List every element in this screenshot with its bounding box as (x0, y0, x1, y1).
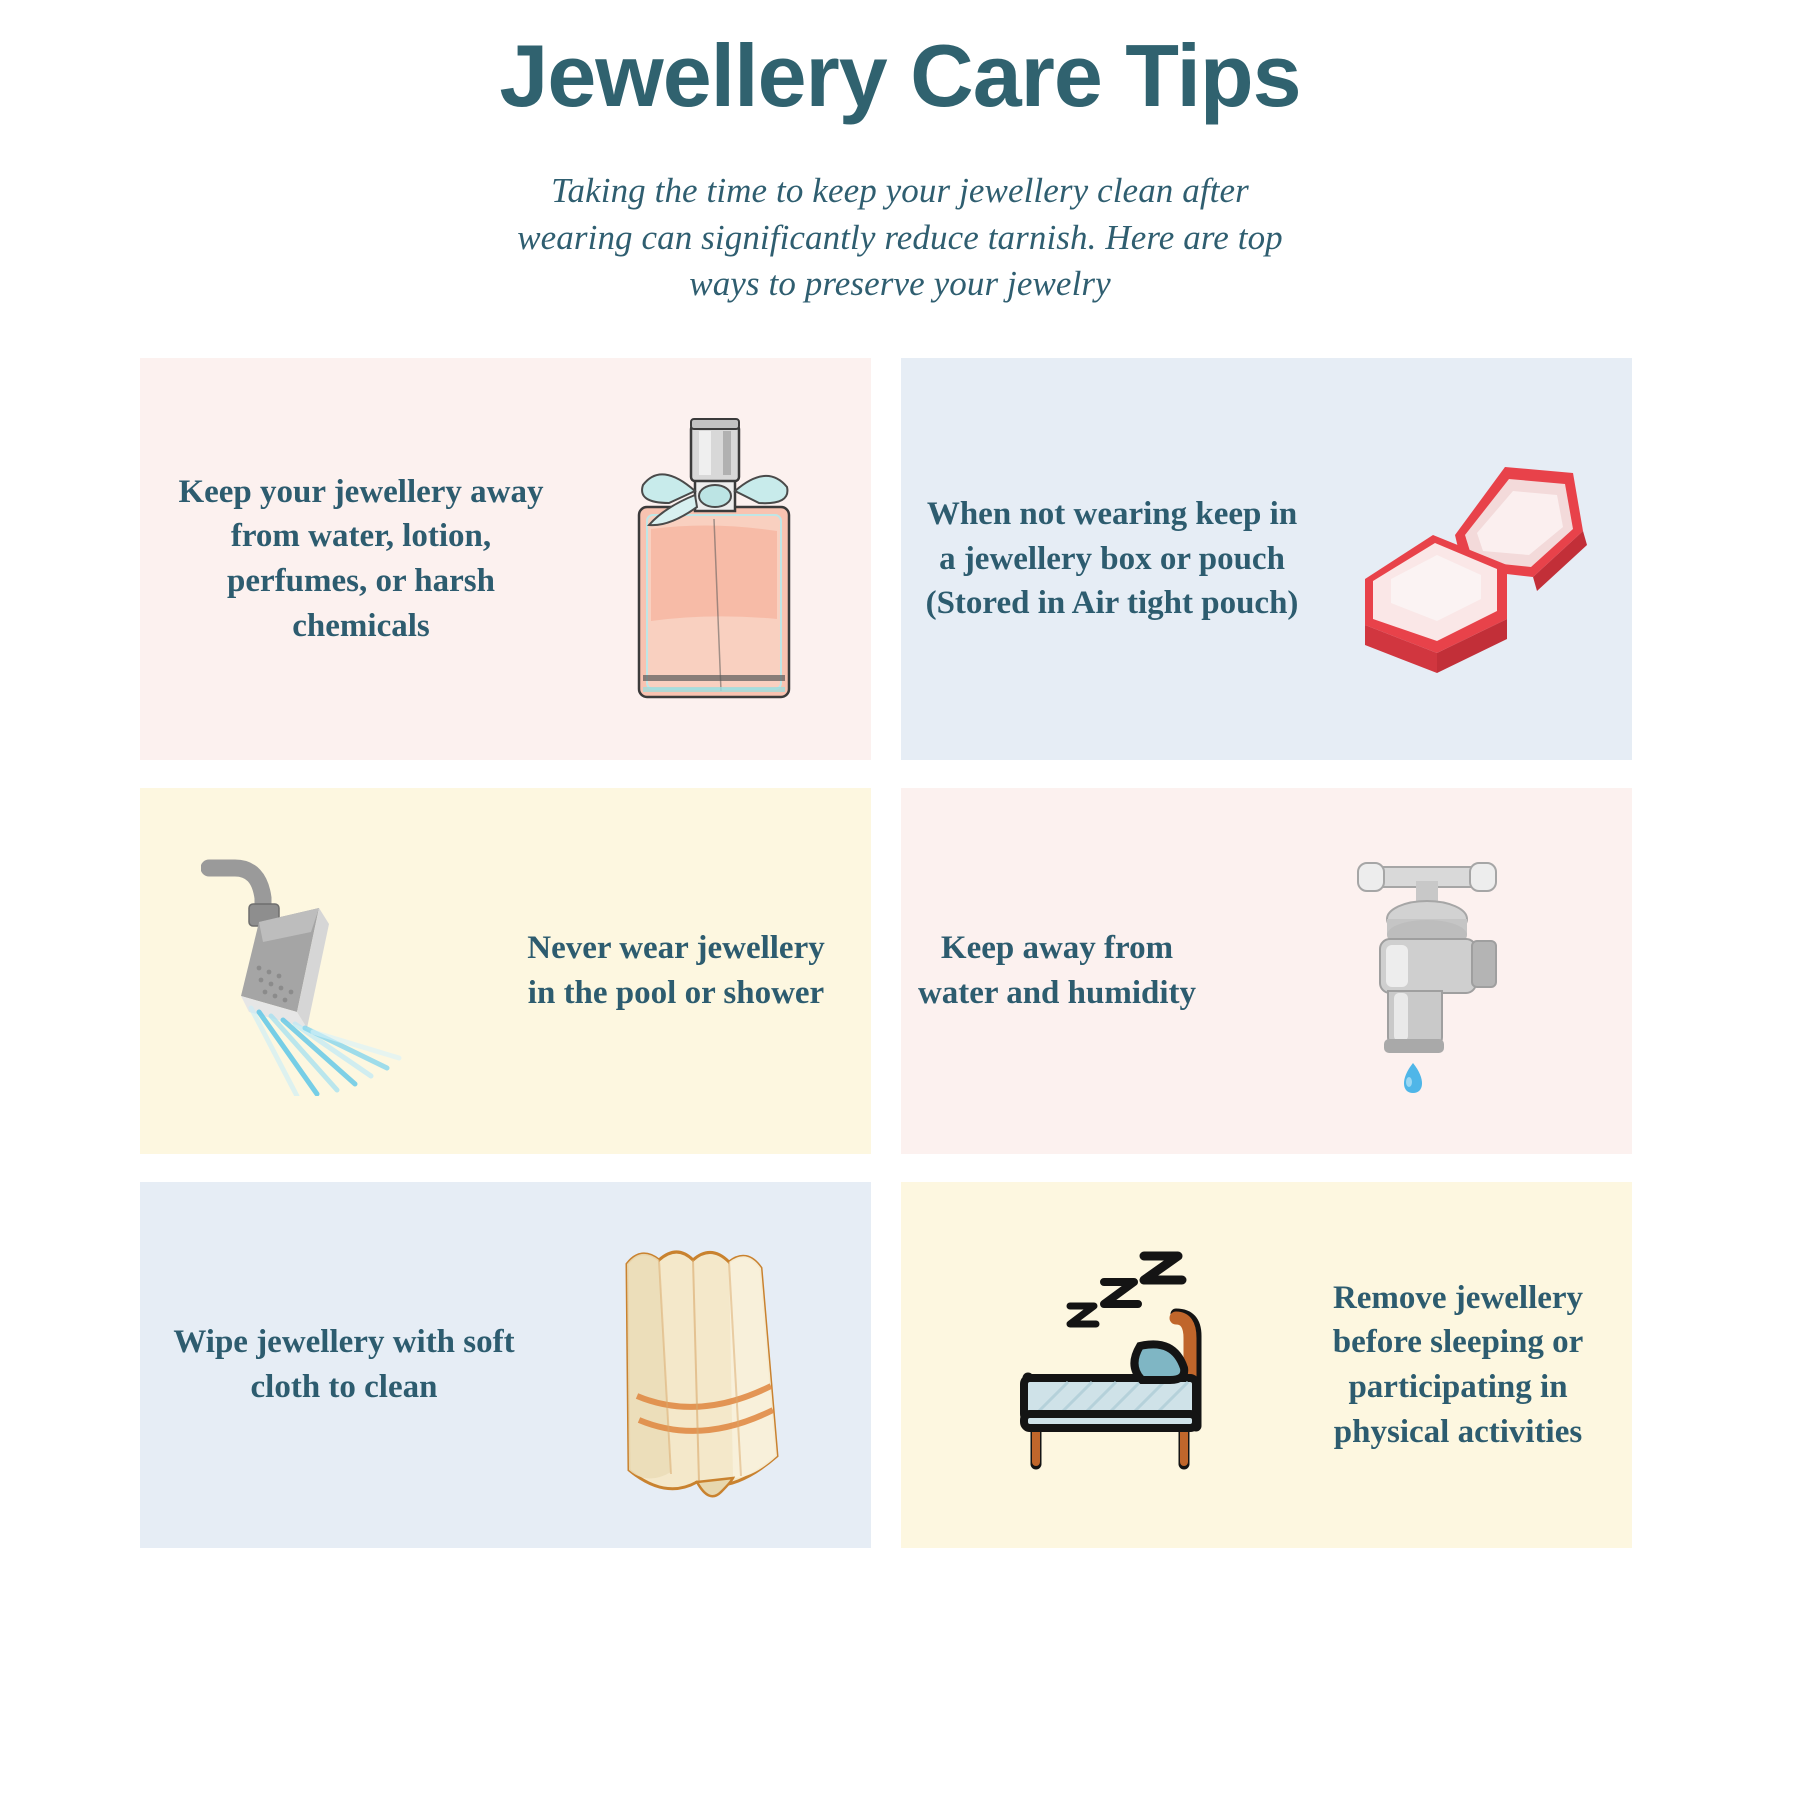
tip-card-keep-away-water: Keep away from water and humidity (901, 788, 1632, 1154)
tip-card-store-in-box: When not wearing keep in a jewellery box… (901, 358, 1632, 760)
header: Jewellery Care Tips Taking the time to k… (0, 0, 1800, 308)
water-faucet-icon (1312, 841, 1552, 1101)
tip-card-text: When not wearing keep in a jewellery box… (901, 492, 1301, 626)
tips-grid: Keep your jewellery away from water, lot… (140, 358, 1632, 1576)
tips-row-2: Never wear jewellery in the pool or show… (140, 788, 1632, 1154)
tip-card-art (901, 1182, 1302, 1548)
infographic-page: Jewellery Care Tips Taking the time to k… (0, 0, 1800, 1800)
tips-row-3: Wipe jewellery with soft cloth to clean (140, 1182, 1632, 1548)
tip-card-art (1301, 358, 1632, 760)
page-title: Jewellery Care Tips (0, 0, 1800, 120)
page-subtitle: Taking the time to keep your jewellery c… (505, 168, 1295, 308)
tip-card-remove-before-sleeping: Remove jewellery before sleeping or part… (901, 1182, 1632, 1548)
tip-card-art (140, 788, 511, 1154)
perfume-bottle-icon (591, 399, 841, 719)
tip-card-text: Remove jewellery before sleeping or part… (1302, 1276, 1632, 1454)
tip-card-text: Keep away from water and humidity (901, 926, 1231, 1015)
tips-row-1: Keep your jewellery away from water, lot… (140, 358, 1632, 760)
tip-card-text: Keep your jewellery away from water, lot… (140, 470, 560, 648)
tip-card-text: Wipe jewellery with soft cloth to clean (140, 1320, 520, 1409)
tip-card-text: Never wear jewellery in the pool or show… (511, 926, 871, 1015)
shower-head-icon (201, 846, 451, 1096)
tip-card-wipe-soft-cloth: Wipe jewellery with soft cloth to clean (140, 1182, 871, 1548)
tip-card-art (560, 358, 871, 760)
tip-card-art (520, 1182, 871, 1548)
bed-sleeping-icon (962, 1250, 1242, 1480)
tip-card-never-pool-shower: Never wear jewellery in the pool or show… (140, 788, 871, 1154)
jewellery-ring-box-icon (1337, 439, 1597, 679)
soft-cloth-icon (581, 1220, 811, 1510)
tip-card-keep-away-chemicals: Keep your jewellery away from water, lot… (140, 358, 871, 760)
tip-card-art (1231, 788, 1632, 1154)
